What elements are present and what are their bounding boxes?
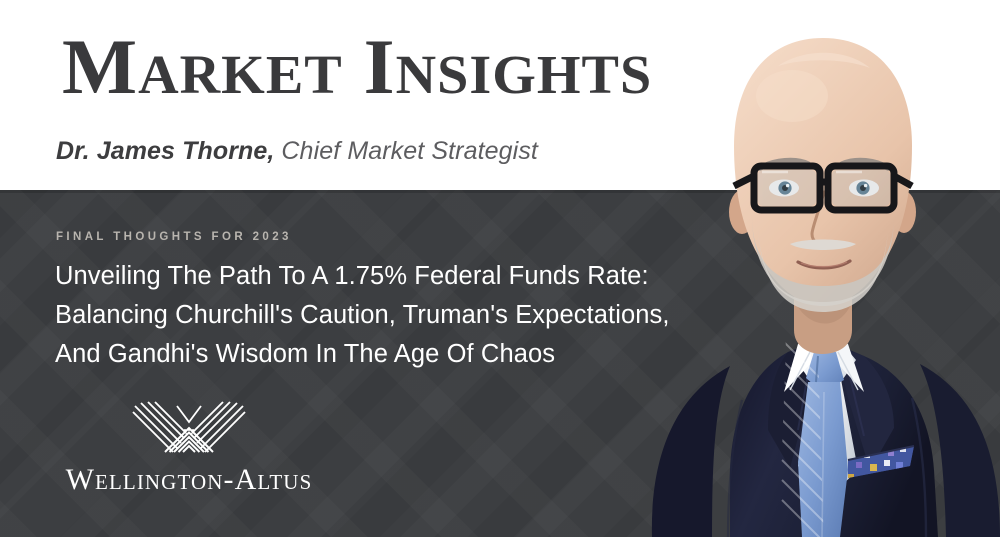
byline: Dr. James Thorne, Chief Market Strategis… — [56, 136, 538, 166]
market-insights-banner: Market Insights Dr. James Thorne, Chief … — [0, 0, 1000, 537]
article-headline: Unveiling The Path To A 1.75% Federal Fu… — [55, 257, 675, 374]
byline-name: Dr. James Thorne, — [56, 137, 274, 165]
headline-line-1: Unveiling The Path To A 1.75% Federal Fu… — [55, 257, 675, 296]
masthead: Market Insights Dr. James Thorne, Chief … — [0, 0, 1000, 190]
wellington-altus-chevron-mark — [129, 396, 249, 460]
eyebrow-label: FINAL THOUGHTS FOR 2023 — [56, 231, 292, 243]
wellington-altus-logo: Wellington-Altus — [48, 396, 330, 496]
headline-line-3: And Gandhi's Wisdom In The Age Of Chaos — [55, 335, 675, 374]
headline-line-2: Balancing Churchill's Caution, Truman's … — [55, 296, 675, 335]
logo-wordmark: Wellington-Altus — [48, 464, 330, 496]
byline-role: Chief Market Strategist — [281, 137, 538, 165]
page-title: Market Insights — [62, 28, 652, 106]
